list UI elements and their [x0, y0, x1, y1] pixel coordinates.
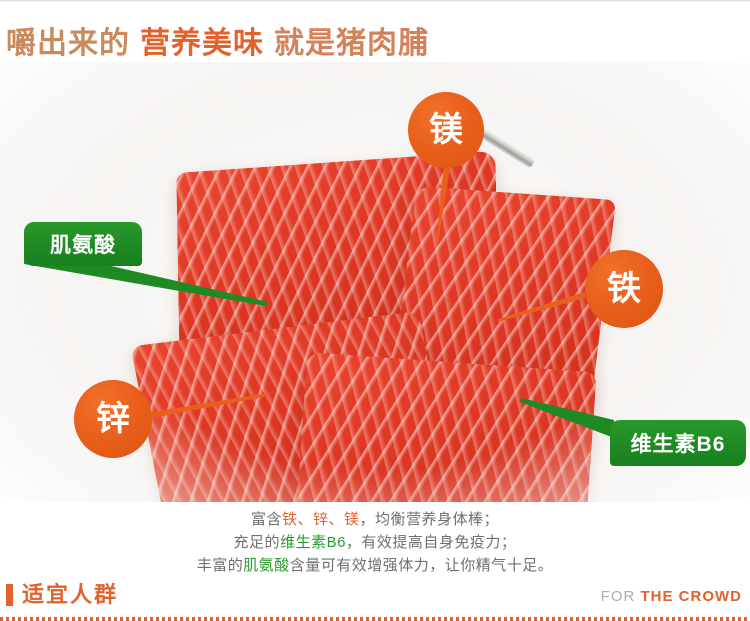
page-title-segment-1: 嚼出来的: [6, 27, 130, 60]
footer-dotted-divider: [0, 617, 750, 621]
nutrient-label-vitamin-b6[interactable]: 维生素B6: [610, 420, 746, 466]
page-title-segment-2: 营养美味: [140, 27, 264, 60]
footer-english-subtitle: FOR THE CROWD: [601, 587, 742, 607]
product-infographic-page: 嚼出来的营养美味就是猪肉脯 镁 铁: [0, 0, 750, 621]
desc-2-suffix: ，有效提高自身免疫力；: [346, 534, 517, 551]
footer-section-title: 适宜人群: [22, 581, 118, 609]
desc-2-prefix: 充足的: [234, 534, 281, 551]
top-divider: [0, 0, 750, 2]
nutrient-badge-zinc[interactable]: 锌: [74, 380, 152, 458]
desc-3-suffix: 含量可有效增强体力，让你精气十足。: [290, 557, 554, 574]
nutrient-badge-iron-label: 铁: [607, 272, 641, 306]
desc-1-prefix: 富含: [251, 511, 282, 528]
page-title-segment-3: 就是猪肉脯: [274, 27, 429, 60]
nutrient-badge-magnesium-label: 镁: [429, 113, 463, 147]
nutrient-label-sarcosine[interactable]: 肌氨酸: [24, 222, 142, 266]
desc-2-highlight: 维生素B6: [280, 534, 346, 551]
description-block: 富含铁、锌、镁，均衡营养身体棒； 充足的维生素B6，有效提高自身免疫力； 丰富的…: [0, 508, 750, 577]
nutrient-label-vitamin-b6-text: 维生素B6: [631, 428, 726, 458]
description-line-3: 丰富的肌氨酸含量可有效增强体力，让你精气十足。: [0, 554, 750, 577]
footer-english-prefix: FOR: [601, 588, 641, 605]
description-line-1: 富含铁、锌、镁，均衡营养身体棒；: [0, 508, 750, 531]
page-title: 嚼出来的营养美味就是猪肉脯: [6, 24, 429, 64]
footer-english-accent: THE CROWD: [641, 588, 743, 605]
footer-accent-bar: [6, 584, 13, 606]
nutrient-badge-iron[interactable]: 铁: [585, 250, 663, 328]
section-footer: 适宜人群 FOR THE CROWD: [0, 575, 750, 621]
nutrient-badge-zinc-label: 锌: [96, 402, 130, 436]
desc-3-prefix: 丰富的: [197, 557, 244, 574]
desc-1-suffix: ，均衡营养身体棒；: [360, 511, 500, 528]
description-line-2: 充足的维生素B6，有效提高自身免疫力；: [0, 531, 750, 554]
desc-1-highlight: 铁、锌、镁: [282, 511, 360, 528]
desc-3-highlight: 肌氨酸: [243, 557, 290, 574]
nutrient-badge-magnesium[interactable]: 镁: [408, 92, 484, 168]
nutrient-label-sarcosine-text: 肌氨酸: [50, 229, 116, 259]
